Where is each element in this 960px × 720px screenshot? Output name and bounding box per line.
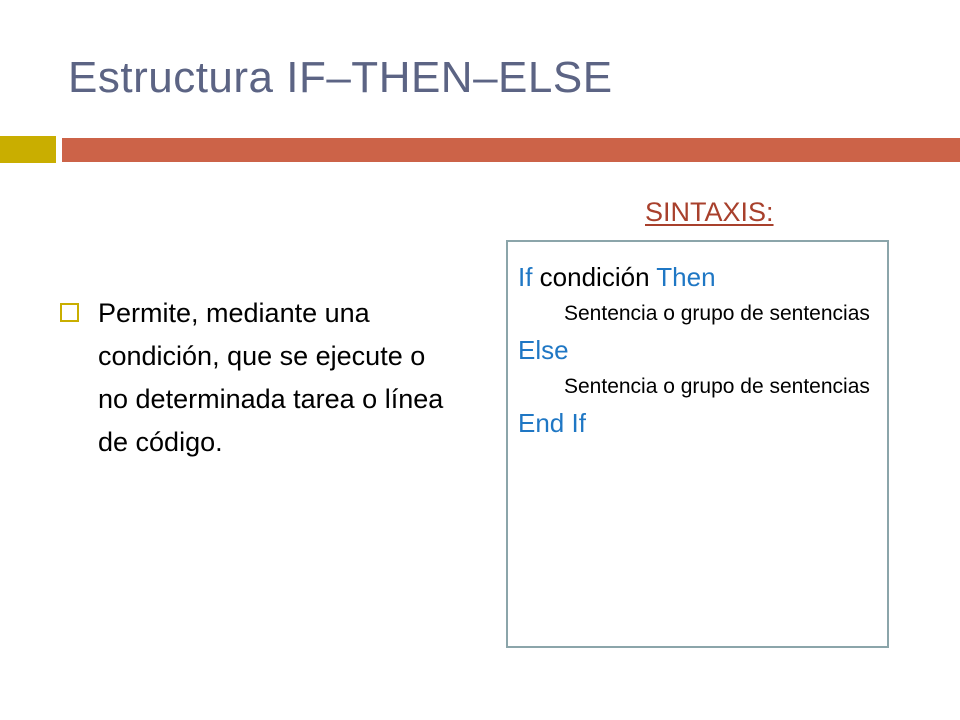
divider-accent-block bbox=[0, 136, 56, 163]
bullet-text: Permite, mediante una condición, que se … bbox=[98, 292, 460, 464]
slide: Estructura IF–THEN–ELSE Permite, mediant… bbox=[0, 0, 960, 720]
code-line-if: If condición Then bbox=[518, 258, 875, 296]
body-content: Permite, mediante una condición, que se … bbox=[60, 292, 460, 464]
code-line-end-if: End If bbox=[518, 404, 875, 442]
keyword-then: Then bbox=[656, 262, 715, 292]
code-line-statements-1: Sentencia o grupo de sentencias bbox=[518, 296, 875, 331]
code-condition: condición bbox=[532, 262, 656, 292]
syntax-heading: SINTAXIS: bbox=[645, 196, 774, 228]
page-title: Estructura IF–THEN–ELSE bbox=[68, 52, 613, 104]
list-item: Permite, mediante una condición, que se … bbox=[60, 292, 460, 464]
code-line-else: Else bbox=[518, 331, 875, 369]
hollow-square-bullet-icon bbox=[60, 303, 79, 322]
code-line-statements-2: Sentencia o grupo de sentencias bbox=[518, 369, 875, 404]
syntax-code-box: If condición Then Sentencia o grupo de s… bbox=[506, 240, 889, 648]
keyword-if: If bbox=[518, 262, 532, 292]
divider-bar bbox=[62, 138, 960, 162]
